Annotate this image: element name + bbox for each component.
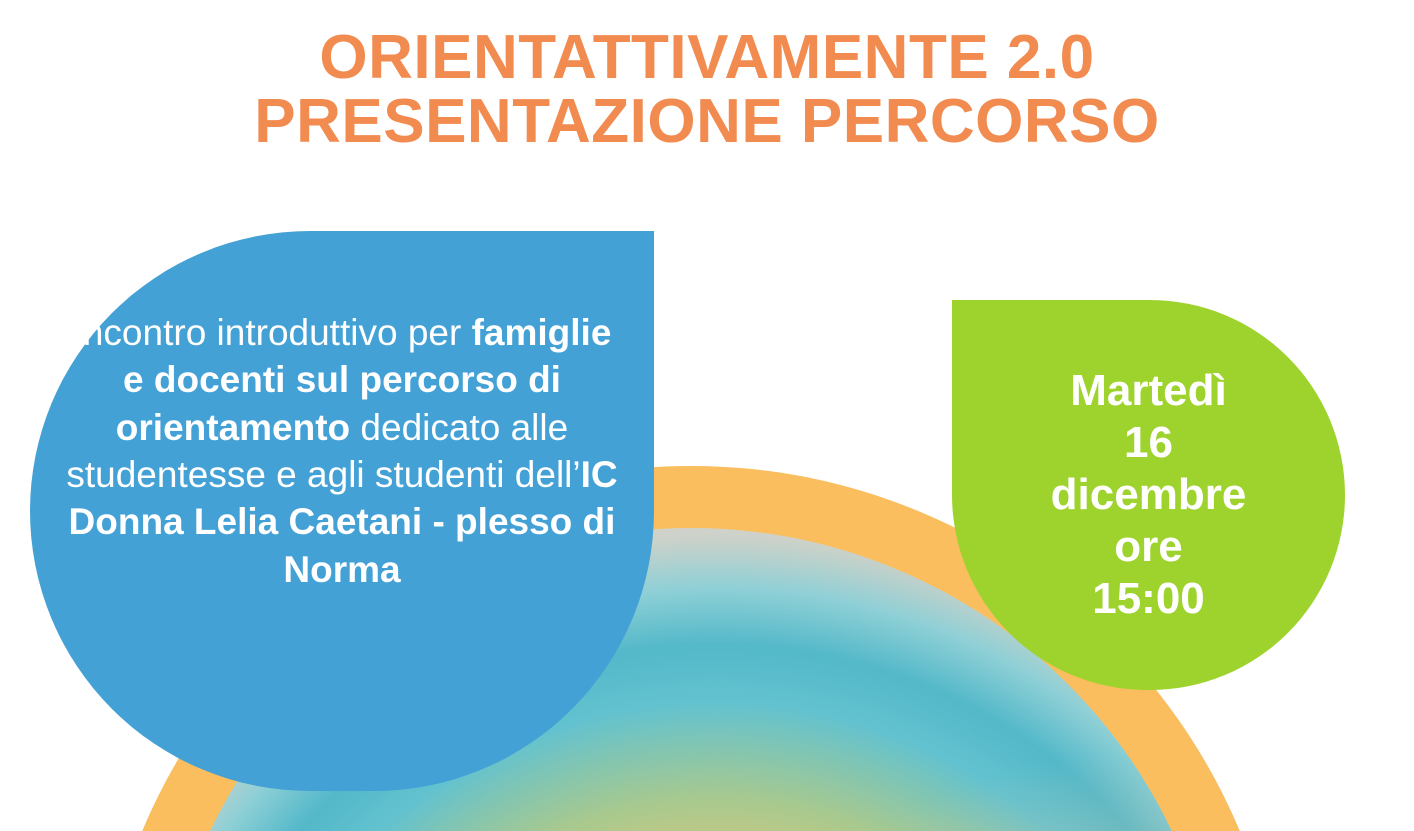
poster-canvas: Incontro introduttivo per famiglie e doc… <box>0 0 1414 831</box>
date-time-label: ore <box>968 521 1329 573</box>
page-title: ORIENTATTIVAMENTE 2.0 PRESENTAZIONE PERC… <box>0 26 1414 155</box>
title-line-2: PRESENTAZIONE PERCORSO <box>0 90 1414 154</box>
date-day: 16 <box>968 417 1329 469</box>
info-text-part-1: Incontro introduttivo <box>73 312 398 353</box>
date-badge: Martedì 16 dicembre ore 15:00 <box>952 300 1345 690</box>
title-line-1: ORIENTATTIVAMENTE 2.0 <box>0 26 1414 90</box>
date-badge-text: Martedì 16 dicembre ore 15:00 <box>968 365 1329 625</box>
date-weekday: Martedì <box>968 365 1329 417</box>
info-card: Incontro introduttivo per famiglie e doc… <box>30 231 654 791</box>
info-text-part-2: per <box>398 312 472 353</box>
date-month: dicembre <box>968 469 1329 521</box>
info-card-text: Incontro introduttivo per famiglie e doc… <box>58 309 626 593</box>
date-time-value: 15:00 <box>968 573 1329 625</box>
